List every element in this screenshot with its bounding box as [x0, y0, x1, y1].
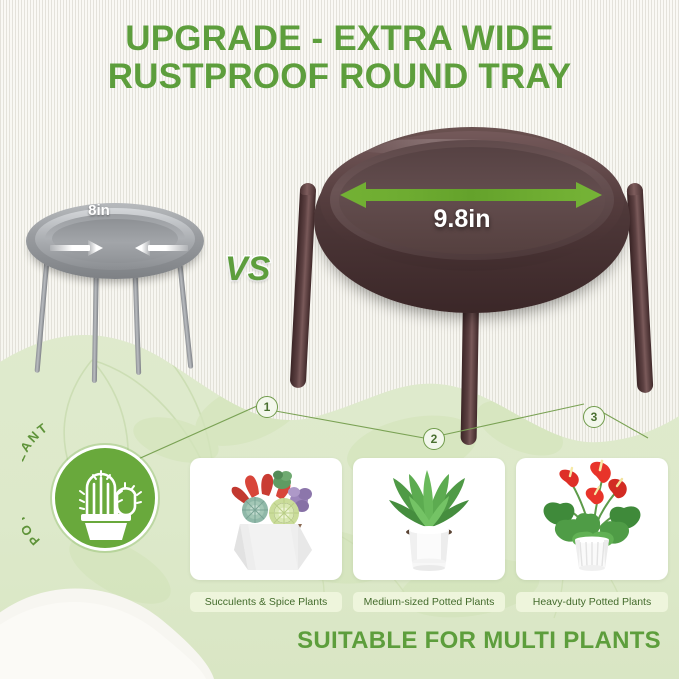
cactus-icon: [55, 448, 155, 548]
large-tray: 9.8in: [314, 127, 630, 313]
card-heavy-duty-plants[interactable]: [516, 458, 668, 580]
svg-text:POTTED PLANT: POTTED PLANT: [22, 419, 52, 548]
connector-node-2: 2: [423, 428, 445, 450]
small-measure-arrow-icon: [48, 237, 190, 259]
card-label-heavy-duty: Heavy-duty Potted Plants: [516, 592, 668, 612]
small-tray-measurement: 8in: [82, 202, 116, 219]
card-labels: Succulents & Spice Plants Medium-sized P…: [190, 592, 670, 612]
succulent-hexagon-pot-icon: [190, 458, 342, 580]
connector-node-3: 3: [583, 406, 605, 428]
connector-node-1: 1: [256, 396, 278, 418]
large-plant-stand: 9.8in: [286, 125, 658, 415]
card-medium-plants[interactable]: [353, 458, 505, 580]
large-stand-leg-right: [627, 183, 654, 394]
card-succulents[interactable]: [190, 458, 342, 580]
large-tray-measurement: 9.8in: [402, 205, 522, 234]
potted-plant-badge: POTTED PLANT: [22, 415, 182, 575]
small-plant-stand: 8in: [22, 195, 212, 380]
aloe-round-pot-icon: [353, 458, 505, 580]
small-tray: 8in: [26, 203, 204, 279]
footer-tagline: SUITABLE FOR MULTI PLANTS: [297, 627, 661, 655]
page-title: UPGRADE - EXTRA WIDE RUSTPROOF ROUND TRA…: [0, 20, 679, 96]
card-label-succulents: Succulents & Spice Plants: [190, 592, 342, 612]
versus-label: VS: [225, 250, 270, 289]
plant-cards: [190, 458, 670, 580]
anthurium-ribbed-pot-icon: [516, 458, 668, 580]
badge-circle: [52, 445, 158, 551]
card-label-medium: Medium-sized Potted Plants: [353, 592, 505, 612]
infographic-canvas: UPGRADE - EXTRA WIDE RUSTPROOF ROUND TRA…: [0, 0, 679, 679]
large-stand-leg-left: [290, 183, 317, 389]
